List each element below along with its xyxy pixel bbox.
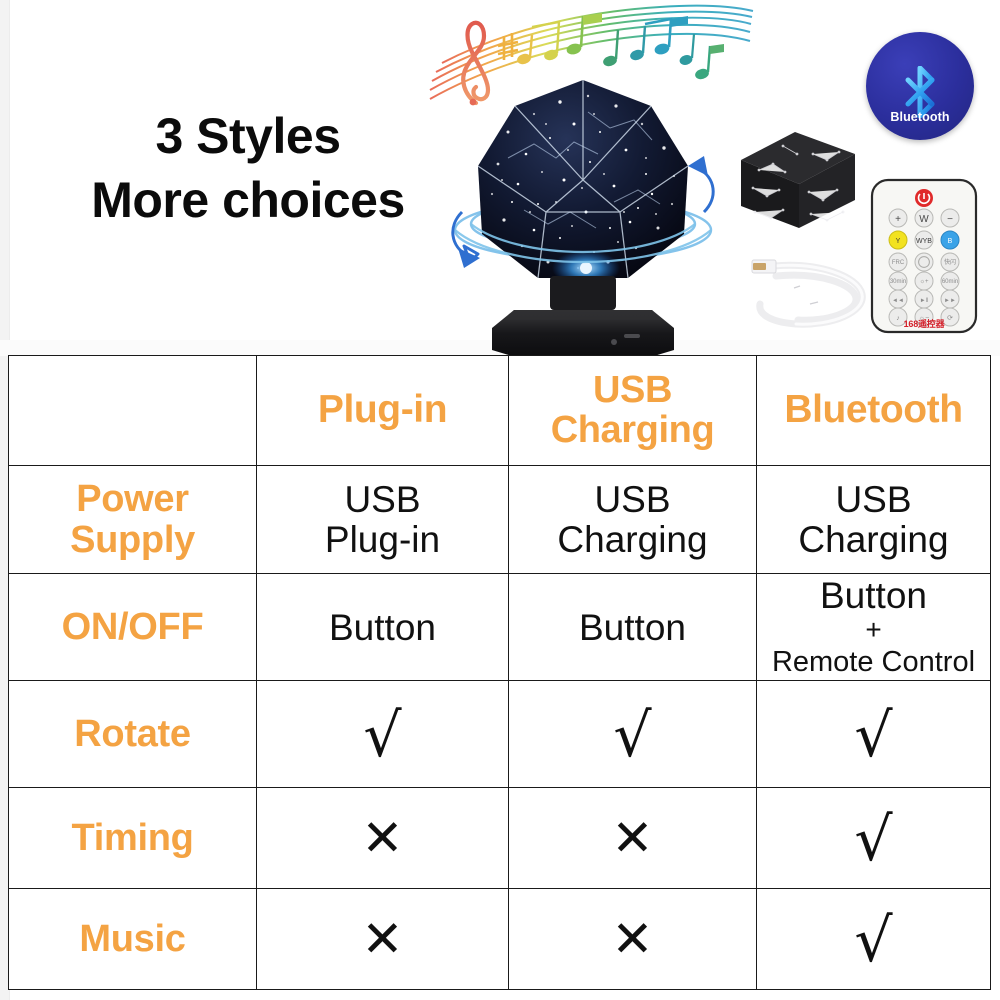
check-icon: √ [613,706,651,766]
cell-onoff-plug-in: Button [257,574,509,681]
cell-rotate-usb-charging: √ [509,681,757,788]
svg-text:FRC: FRC [892,260,905,266]
svg-text:◄◄: ◄◄ [892,298,904,304]
table-row-power-supply: Power Supply USB Plug-in USB Charging US… [9,466,991,574]
cell-timing-usb-charging: ✕ [509,788,757,889]
headline-line-1: 3 Styles [48,104,448,168]
header-cell-blank [9,356,257,466]
headline-line-2: More choices [48,168,448,232]
cross-icon: ✕ [612,813,654,863]
header-cell-plug-in: Plug-in [257,356,509,466]
row-label-music: Music [9,889,257,990]
cell-onoff-usb-charging: Button [509,574,757,681]
cell-music-plug-in: ✕ [257,889,509,990]
cell-music-bluetooth: √ [757,889,991,990]
cross-icon: ✕ [362,914,404,964]
svg-text:►ll: ►ll [920,298,929,304]
svg-text:►►: ►► [944,298,956,304]
header-plug-in-label: Plug-in [318,388,447,431]
constellation-gift-box [733,124,863,236]
header-cell-usb-charging: USB Charging [509,356,757,466]
cell-onoff-bt-line1: Button [820,575,927,616]
cell-power-plug-in-line2: Plug-in [325,519,440,560]
table-row-timing: Timing ✕ ✕ √ [9,788,991,889]
cell-timing-plug-in: ✕ [257,788,509,889]
row-label-rotate-text: Rotate [74,713,190,755]
check-icon: √ [854,706,892,766]
cross-icon: ✕ [612,914,654,964]
table-row-rotate: Rotate √ √ √ [9,681,991,788]
row-label-on-off: ON/OFF [9,574,257,681]
svg-text:WYB: WYB [916,238,932,245]
row-label-rotate: Rotate [9,681,257,788]
cell-onoff-plug-in-text: Button [329,607,436,648]
table-row-on-off: ON/OFF Button Button Button + Remote Con… [9,574,991,681]
star-projector-lamp [438,62,728,357]
row-label-power-line2: Supply [70,519,195,561]
row-label-timing: Timing [9,788,257,889]
header-bluetooth-label: Bluetooth [784,388,962,431]
check-icon: √ [363,706,401,766]
remote-control: +W− YWYB B FRC快闪 30min☼+60min ◄◄►ll►► [868,178,980,338]
cell-onoff-bluetooth: Button + Remote Control [757,574,991,681]
cell-power-plug-in: USB Plug-in [257,466,509,574]
svg-text:60min: 60min [942,279,958,285]
svg-text:30min: 30min [890,279,906,285]
cell-power-usb-charging: USB Charging [509,466,757,574]
remote-model-label: 168遥控器 [868,317,980,330]
cell-onoff-usb-text: Button [579,607,686,648]
svg-text:Y: Y [896,238,901,245]
row-label-power-supply: Power Supply [9,466,257,574]
cell-timing-bluetooth: √ [757,788,991,889]
row-label-power-line1: Power [76,478,189,520]
cell-music-usb-charging: ✕ [509,889,757,990]
svg-text:快闪: 快闪 [944,258,956,266]
cell-power-bluetooth: USB Charging [757,466,991,574]
header-usb-line2: Charging [551,409,715,451]
bluetooth-badge-label: Bluetooth [866,110,974,124]
header-cell-bluetooth: Bluetooth [757,356,991,466]
table-row-music: Music ✕ ✕ √ [9,889,991,990]
row-label-on-off-text: ON/OFF [62,606,204,648]
usb-cable [740,244,875,344]
hero-section: 3 Styles More choices [0,0,1000,355]
bluetooth-badge: Bluetooth [866,32,974,140]
svg-text:B: B [948,238,953,245]
row-label-timing-text: Timing [71,817,193,859]
check-icon: √ [854,911,892,971]
header-usb-line1: USB [593,369,672,411]
cell-power-usb-line2: Charging [557,519,707,560]
cell-power-usb-line1: USB [594,479,670,520]
page-title: 3 Styles More choices [48,104,448,232]
table-header-row: Plug-in USB Charging Bluetooth [9,356,991,466]
cell-onoff-bt-line2: Remote Control [761,646,986,678]
cell-rotate-bluetooth: √ [757,681,991,788]
svg-text:−: − [947,214,953,225]
cell-rotate-plug-in: √ [257,681,509,788]
row-label-music-text: Music [79,918,185,960]
svg-text:+: + [895,214,901,225]
cell-power-bt-line2: Charging [798,519,948,560]
cell-power-bt-line1: USB [835,479,911,520]
svg-text:☼+: ☼+ [919,279,928,285]
svg-text:W: W [919,214,929,225]
check-icon: √ [854,810,892,870]
cross-icon: ✕ [362,813,404,863]
comparison-table: Plug-in USB Charging Bluetooth Power Sup… [8,355,991,990]
cell-onoff-bt-plus: + [761,615,986,646]
cell-power-plug-in-line1: USB [344,479,420,520]
